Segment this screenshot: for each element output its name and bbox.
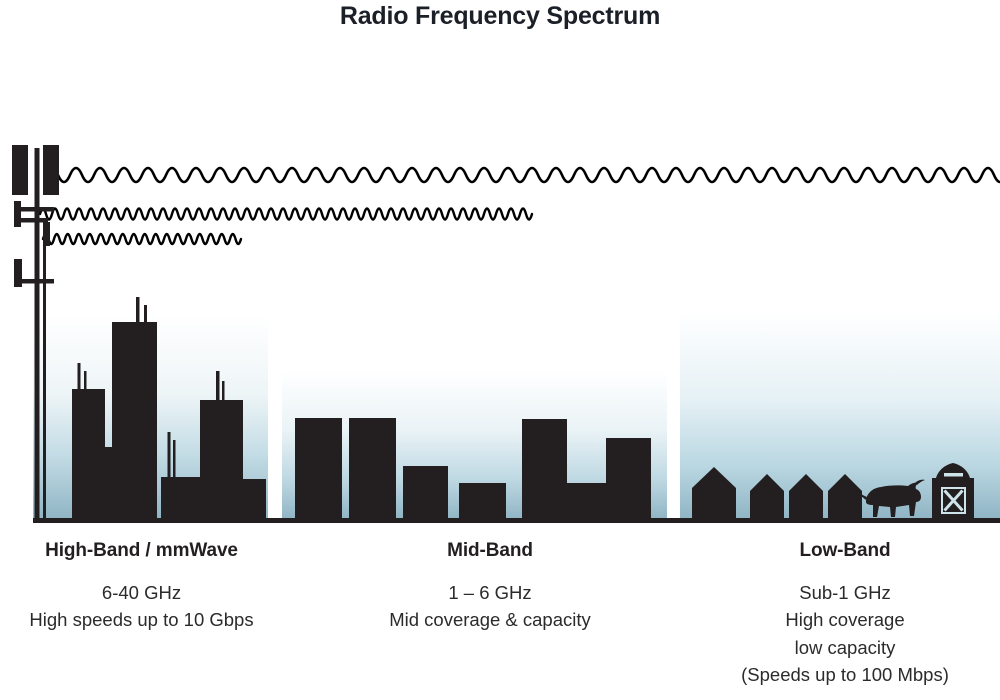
antenna-panel-small-upper (14, 201, 21, 227)
band-title: Mid-Band (340, 540, 640, 562)
band-label-low-band: Low-Band Sub-1 GHz High coverage low cap… (690, 540, 1000, 689)
tower-mast (35, 148, 40, 520)
building (459, 483, 506, 520)
building (104, 447, 113, 520)
building (522, 419, 567, 520)
building (200, 400, 243, 520)
band-frequency: Sub-1 GHz (690, 579, 1000, 606)
band-detail-lines: 1 – 6 GHz Mid coverage & capacity (340, 579, 640, 634)
band-detail-lines: 6-40 GHz High speeds up to 10 Gbps (0, 579, 283, 634)
building (72, 389, 105, 520)
short-wavelength-wave (43, 234, 241, 244)
long-wavelength-wave (46, 168, 1000, 182)
building (242, 479, 266, 520)
band-description-line: High speeds up to 10 Gbps (0, 606, 283, 633)
building (566, 483, 607, 520)
antenna-panel-left-upper (12, 145, 28, 195)
wave-group (40, 168, 1000, 244)
antenna-panel-small-mid (43, 222, 50, 246)
building (606, 438, 651, 520)
tower-crossbar-upper-2 (21, 218, 48, 223)
ground-line (33, 518, 1000, 523)
building-spire (168, 432, 171, 480)
antenna-panel-small-lower (14, 259, 22, 287)
building (295, 418, 342, 520)
building (161, 477, 201, 520)
building (112, 322, 157, 520)
antenna-panel-right-upper (43, 145, 59, 195)
building-spire (173, 440, 176, 482)
band-detail-lines: Sub-1 GHz High coverage low capacity (Sp… (690, 579, 1000, 689)
band-description-line: High coverage (690, 606, 1000, 633)
band-frequency: 6-40 GHz (0, 579, 283, 606)
building-spire (136, 297, 140, 325)
tower-mast-secondary (43, 218, 46, 520)
band-label-mid-band: Mid-Band 1 – 6 GHz Mid coverage & capaci… (340, 540, 640, 634)
band-description-line: Mid coverage & capacity (340, 606, 640, 633)
band-frequency: 1 – 6 GHz (340, 579, 640, 606)
band-title: High-Band / mmWave (0, 540, 283, 562)
band-label-high-band: High-Band / mmWave 6-40 GHz High speeds … (0, 540, 283, 634)
band-description-line: (Speeds up to 100 Mbps) (690, 661, 1000, 688)
band-description-line: low capacity (690, 634, 1000, 661)
band-label-group: High-Band / mmWave 6-40 GHz High speeds … (0, 540, 1000, 700)
building (349, 418, 396, 520)
building (403, 466, 448, 520)
infographic-root: Radio Frequency Spectrum (0, 0, 1000, 700)
medium-wavelength-wave (40, 209, 532, 220)
band-title: Low-Band (690, 540, 1000, 562)
